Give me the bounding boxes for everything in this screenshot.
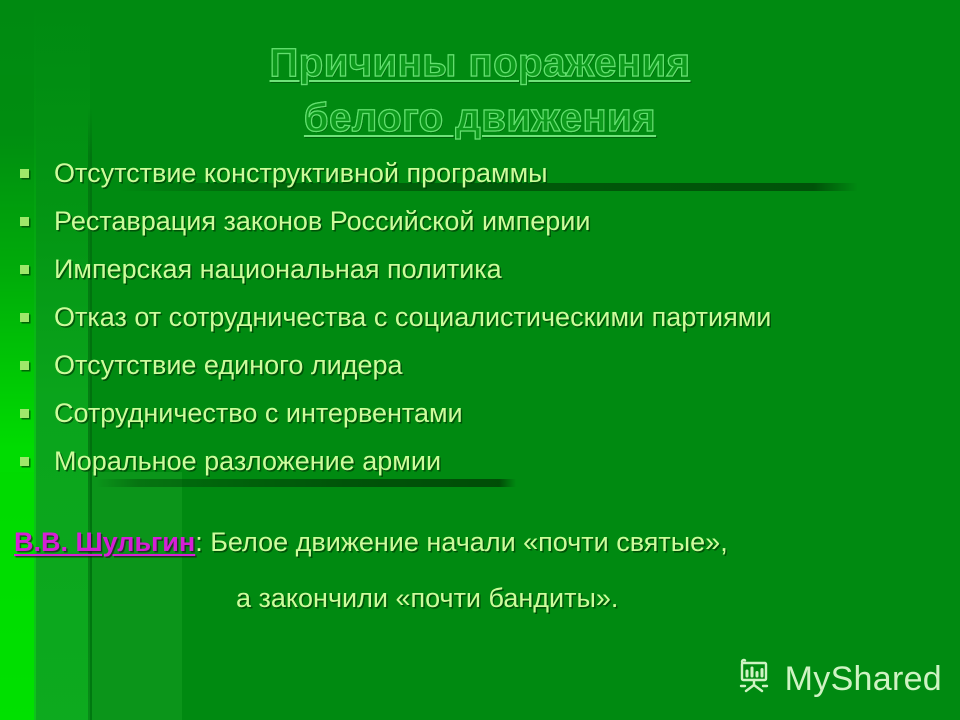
list-item: Отсутствие конструктивной программы <box>14 152 944 195</box>
slide-title-line-1: Причины поражения <box>0 36 960 91</box>
list-item: Имперская национальная политика <box>14 248 944 291</box>
list-item-label: Отсутствие единого лидера <box>54 350 403 380</box>
square-bullet-icon <box>20 457 29 466</box>
list-item-label: Реставрация законов Российской империи <box>54 206 590 236</box>
presentation-slide: Причины поражения белого движения Отсутс… <box>0 0 960 720</box>
quote-line-2: а закончили «почти бандиты». <box>14 578 944 618</box>
quote-line-1-text: : Белое движение начали «почти святые», <box>195 527 728 557</box>
quote-author: В.В. Шульгин <box>14 527 195 557</box>
list-item: Моральное разложение армии <box>14 440 944 483</box>
square-bullet-icon <box>20 169 29 178</box>
list-item-label: Отсутствие конструктивной программы <box>54 158 548 188</box>
myshared-watermark: MyShared <box>735 657 942 702</box>
list-item: Отсутствие единого лидера <box>14 344 944 387</box>
list-item-label: Сотрудничество с интервентами <box>54 398 463 428</box>
list-item-label: Имперская национальная политика <box>54 254 502 284</box>
quote-line-1: В.В. Шульгин: Белое движение начали «поч… <box>14 522 944 562</box>
square-bullet-icon <box>20 409 29 418</box>
square-bullet-icon <box>20 265 29 274</box>
slide-title: Причины поражения белого движения <box>0 36 960 146</box>
list-item-label: Отказ от сотрудничества с социалистическ… <box>54 302 771 332</box>
quote-block: В.В. Шульгин: Белое движение начали «поч… <box>14 522 944 618</box>
list-item: Сотрудничество с интервентами <box>14 392 944 435</box>
square-bullet-icon <box>20 361 29 370</box>
list-item: Отказ от сотрудничества с социалистическ… <box>14 296 944 339</box>
list-item: Реставрация законов Российской империи <box>14 200 944 243</box>
slide-title-line-2: белого движения <box>0 91 960 146</box>
square-bullet-icon <box>20 313 29 322</box>
presentation-chart-icon <box>735 657 775 702</box>
myshared-watermark-label: MyShared <box>785 660 942 699</box>
list-item-label: Моральное разложение армии <box>54 446 441 476</box>
square-bullet-icon <box>20 217 29 226</box>
bullet-list: Отсутствие конструктивной программы Рест… <box>14 152 944 488</box>
